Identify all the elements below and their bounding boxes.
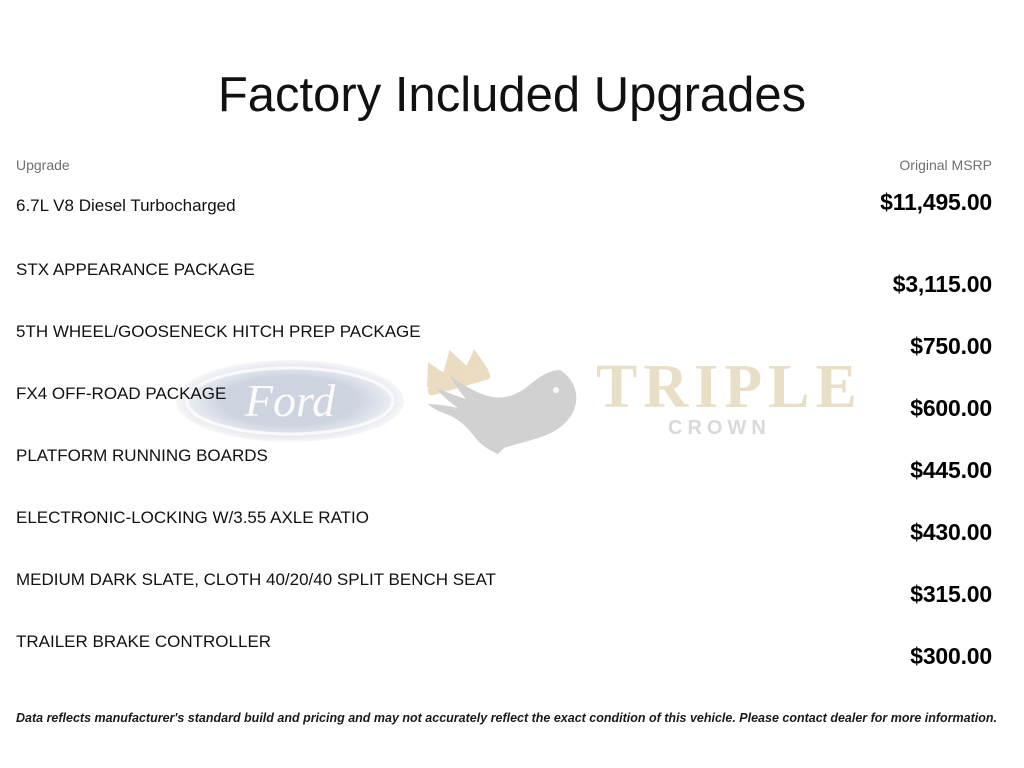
upgrade-price: $750.00	[910, 310, 992, 358]
table-row: FX4 OFF-ROAD PACKAGE $600.00	[0, 372, 1024, 434]
upgrade-name: 6.7L V8 Diesel Turbocharged	[16, 186, 236, 218]
upgrade-name: 5TH WHEEL/GOOSENECK HITCH PREP PACKAGE	[16, 310, 421, 344]
page-title: Factory Included Upgrades	[0, 69, 1024, 123]
table-row: STX APPEARANCE PACKAGE $3,115.00	[0, 248, 1024, 310]
upgrade-price: $300.00	[910, 620, 992, 668]
upgrade-price: $430.00	[910, 496, 992, 544]
upgrade-price: $11,495.00	[880, 186, 992, 214]
table-row: TRAILER BRAKE CONTROLLER $300.00	[0, 620, 1024, 682]
upgrades-table: Upgrade Original MSRP 6.7L V8 Diesel Tur…	[0, 152, 1024, 682]
upgrade-price: $445.00	[910, 434, 992, 482]
upgrade-name: PLATFORM RUNNING BOARDS	[16, 434, 268, 468]
disclaimer-text: Data reflects manufacturer's standard bu…	[16, 710, 1006, 726]
table-row: MEDIUM DARK SLATE, CLOTH 40/20/40 SPLIT …	[0, 558, 1024, 620]
upgrade-name: STX APPEARANCE PACKAGE	[16, 248, 255, 282]
upgrade-price: $3,115.00	[893, 248, 992, 296]
column-header-msrp: Original MSRP	[899, 157, 992, 173]
upgrade-price: $315.00	[910, 558, 992, 606]
upgrade-name: FX4 OFF-ROAD PACKAGE	[16, 372, 226, 406]
upgrade-price: $600.00	[910, 372, 992, 420]
column-header-upgrade: Upgrade	[16, 157, 70, 173]
table-row: PLATFORM RUNNING BOARDS $445.00	[0, 434, 1024, 496]
table-row: ELECTRONIC-LOCKING W/3.55 AXLE RATIO $43…	[0, 496, 1024, 558]
upgrade-name: ELECTRONIC-LOCKING W/3.55 AXLE RATIO	[16, 496, 369, 530]
table-row: 6.7L V8 Diesel Turbocharged $11,495.00	[0, 186, 1024, 248]
upgrade-name: MEDIUM DARK SLATE, CLOTH 40/20/40 SPLIT …	[16, 558, 496, 592]
upgrade-name: TRAILER BRAKE CONTROLLER	[16, 620, 271, 654]
upgrades-page: Ford TRIPLE CROWN Factory Included Upgra…	[0, 0, 1024, 768]
table-row: 5TH WHEEL/GOOSENECK HITCH PREP PACKAGE $…	[0, 310, 1024, 372]
table-header-row: Upgrade Original MSRP	[0, 152, 1024, 186]
